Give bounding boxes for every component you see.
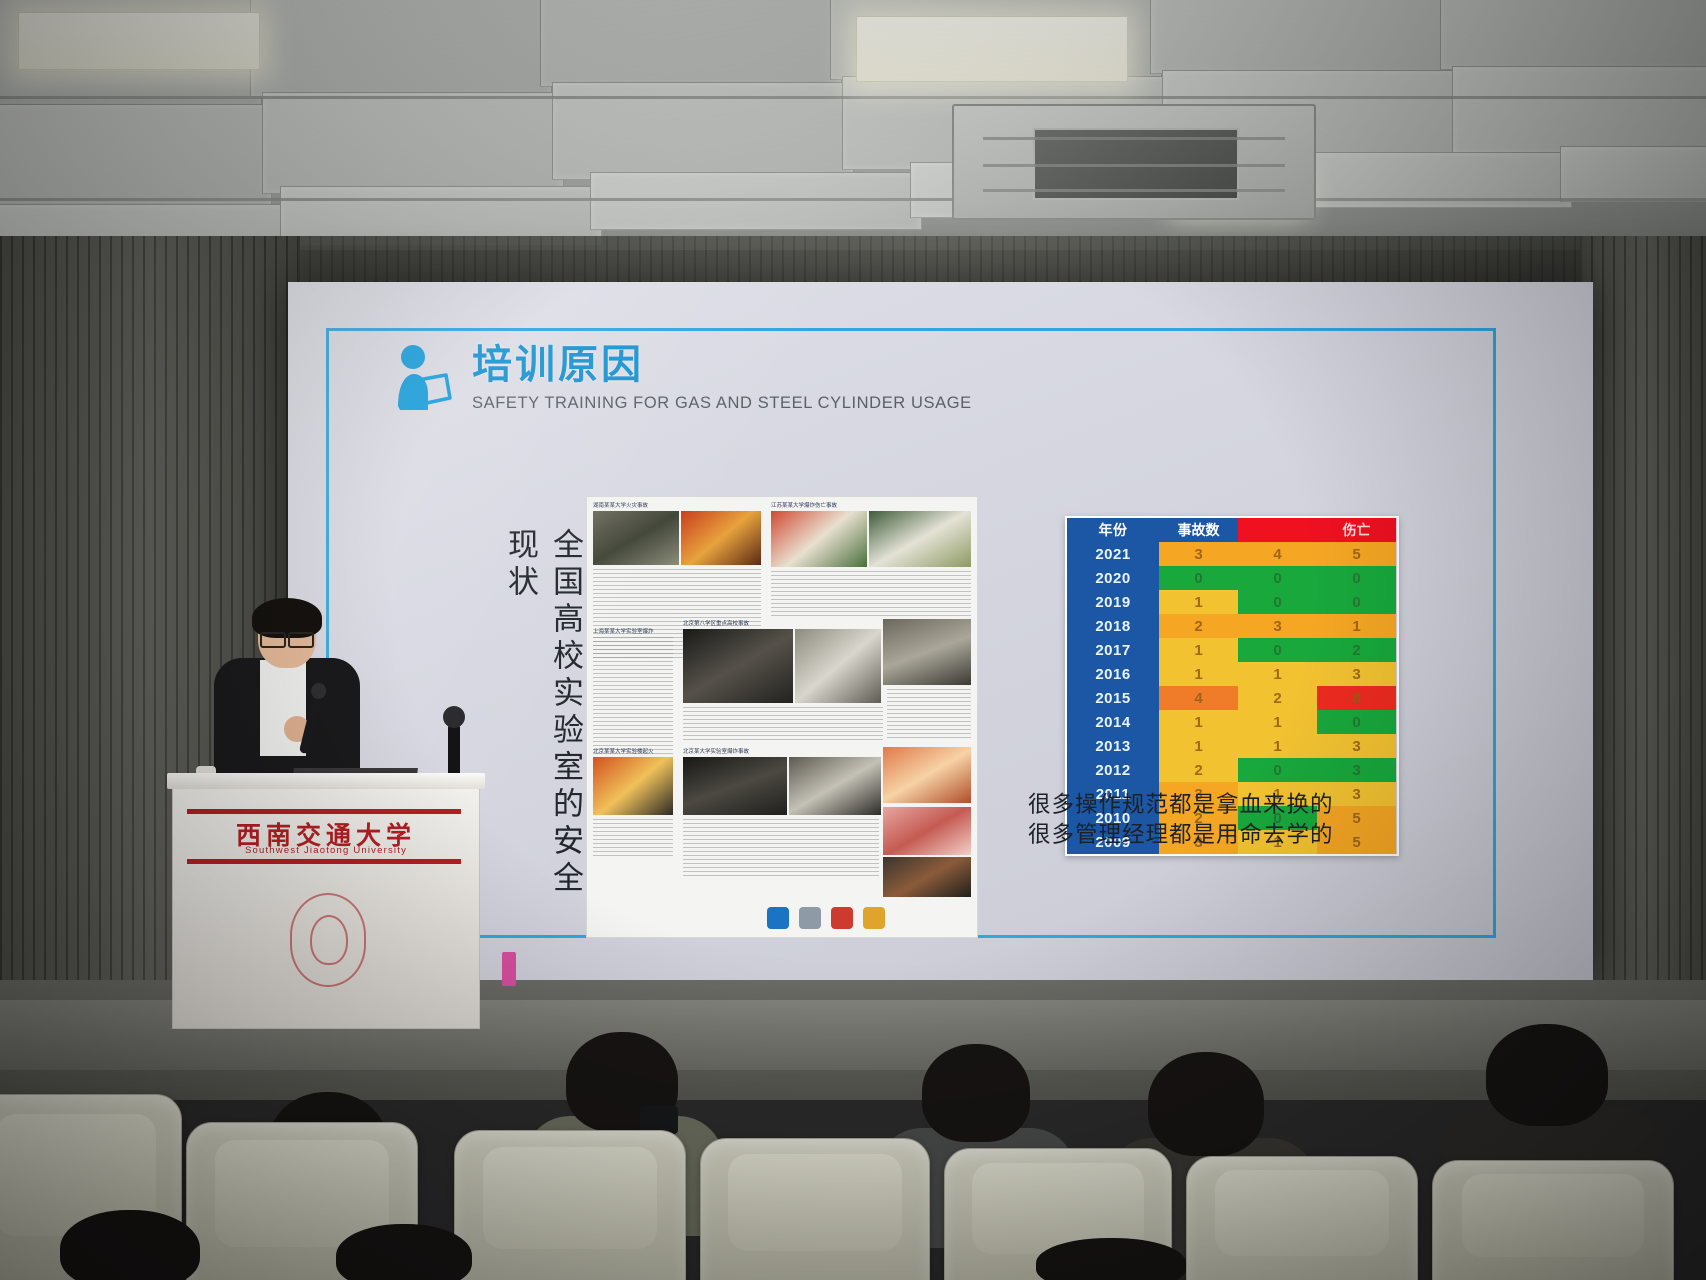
audience-head — [922, 1044, 1030, 1142]
table-cell-year: 2012 — [1067, 758, 1159, 782]
table-row: 2021345 — [1067, 542, 1397, 566]
table-row: 2012203 — [1067, 758, 1397, 782]
ceiling — [0, 0, 1706, 250]
table-header-cell: 伤亡 — [1317, 518, 1396, 542]
table-cell-value: 1 — [1159, 638, 1238, 662]
table-row: 2020000 — [1067, 566, 1397, 590]
table-row: 2015428 — [1067, 686, 1397, 710]
seat — [454, 1130, 686, 1280]
table-cell-value: 1 — [1238, 734, 1317, 758]
table-cell-value: 3 — [1159, 542, 1238, 566]
table-cell-year: 2014 — [1067, 710, 1159, 734]
table-caption: 很多操作规范都是拿血来换的 很多管理经理都是用命去学的 — [1028, 790, 1428, 851]
person-reading-icon — [388, 344, 454, 414]
table-cell-year: 2016 — [1067, 662, 1159, 686]
screenshot-root: 培训原因 SAFETY TRAINING FOR GAS AND STEEL C… — [0, 0, 1706, 1280]
table-cell-value: 2 — [1238, 686, 1317, 710]
caption-line-1: 很多操作规范都是拿血来换的 — [1028, 790, 1428, 820]
table-header-cell — [1238, 518, 1317, 542]
audience-head-front — [60, 1210, 200, 1280]
poster-caption: 北京某大学实验室爆炸事故 — [683, 747, 749, 755]
table-cell-value: 1 — [1238, 710, 1317, 734]
table-cell-value: 4 — [1159, 686, 1238, 710]
poster-caption: 上海某某大学实验室爆炸 — [593, 627, 654, 635]
table-cell-year: 2021 — [1067, 542, 1159, 566]
table-cell-value: 0 — [1238, 590, 1317, 614]
table-row: 2016113 — [1067, 662, 1397, 686]
presentation-slide: 培训原因 SAFETY TRAINING FOR GAS AND STEEL C… — [328, 330, 1488, 930]
table-cell-value: 3 — [1238, 614, 1317, 638]
table-row: 2019100 — [1067, 590, 1397, 614]
poster-caption: 北京某某大学实验楼起火 — [593, 747, 654, 755]
poster-caption: 北京第八学区重点高校事故 — [683, 619, 749, 627]
vertical-caption: 全国高校实验室的安全现状 — [498, 528, 588, 930]
slide-header: 培训原因 SAFETY TRAINING FOR GAS AND STEEL C… — [388, 344, 972, 414]
table-cell-value: 3 — [1317, 758, 1396, 782]
table-cell-year: 2019 — [1067, 590, 1159, 614]
audience-head — [1486, 1024, 1608, 1126]
slide-subtitle: SAFETY TRAINING FOR GAS AND STEEL CYLIND… — [472, 394, 972, 413]
table-cell-value: 1 — [1238, 662, 1317, 686]
table-cell-value: 0 — [1238, 638, 1317, 662]
table-cell-year: 2015 — [1067, 686, 1159, 710]
audience-head — [1148, 1052, 1264, 1156]
poster-caption: 江苏某某大学爆炸伤亡事故 — [771, 501, 837, 509]
university-name-en: Southwest Jiaotong University — [173, 845, 479, 856]
table-cell-value: 3 — [1317, 662, 1396, 686]
audience-head-front — [336, 1224, 472, 1280]
seat — [700, 1138, 930, 1280]
table-cell-value: 0 — [1238, 566, 1317, 590]
audience-head-front — [1036, 1238, 1186, 1280]
poster-caption: 湖南某某大学火灾事故 — [593, 501, 648, 509]
table-cell-value: 1 — [1317, 614, 1396, 638]
ac-vent — [952, 104, 1316, 220]
table-cell-value: 0 — [1317, 710, 1396, 734]
table-cell-value: 2 — [1317, 638, 1396, 662]
caption-line-2: 很多管理经理都是用命去学的 — [1028, 820, 1428, 850]
table-cell-year: 2013 — [1067, 734, 1159, 758]
table-cell-value: 8 — [1317, 686, 1396, 710]
table-cell-value: 0 — [1238, 758, 1317, 782]
table-cell-value: 3 — [1317, 734, 1396, 758]
table-row: 2013113 — [1067, 734, 1397, 758]
table-cell-value: 1 — [1159, 590, 1238, 614]
table-cell-value: 2 — [1159, 758, 1238, 782]
table-cell-value: 0 — [1317, 590, 1396, 614]
table-cell-value: 0 — [1159, 566, 1238, 590]
lectern: 西南交通大学 Southwest Jiaotong University — [172, 782, 480, 1029]
marker-pen — [502, 952, 516, 986]
slide-title: 培训原因 — [472, 345, 972, 385]
ceiling-light — [856, 16, 1128, 82]
table-cell-value: 5 — [1317, 542, 1396, 566]
news-poster-collage: 湖南某某大学火灾事故 江苏某某大学爆炸伤亡事故 上海某某大学实验室爆炸 北京第八… — [586, 496, 978, 938]
ceiling-light — [18, 12, 260, 70]
table-header-cell: 年份 — [1067, 518, 1159, 542]
projection-screen: 培训原因 SAFETY TRAINING FOR GAS AND STEEL C… — [288, 282, 1593, 982]
table-row: 2014110 — [1067, 710, 1397, 734]
table-row: 2017102 — [1067, 638, 1397, 662]
table-cell-value: 0 — [1317, 566, 1396, 590]
table-cell-value: 2 — [1159, 614, 1238, 638]
table-cell-year: 2018 — [1067, 614, 1159, 638]
table-cell-value: 4 — [1238, 542, 1317, 566]
table-cell-value: 1 — [1159, 710, 1238, 734]
table-cell-value: 1 — [1159, 662, 1238, 686]
seat — [1186, 1156, 1418, 1280]
university-emblem — [290, 893, 366, 987]
poster-logo-row — [767, 905, 967, 931]
table-header-row: 年份事故数伤亡 — [1067, 518, 1397, 542]
table-cell-value: 1 — [1159, 734, 1238, 758]
table-cell-year: 2020 — [1067, 566, 1159, 590]
audience-seating — [0, 1010, 1706, 1280]
table-header-cell: 事故数 — [1159, 518, 1238, 542]
seat — [1432, 1160, 1674, 1280]
table-row: 2018231 — [1067, 614, 1397, 638]
table-cell-year: 2017 — [1067, 638, 1159, 662]
